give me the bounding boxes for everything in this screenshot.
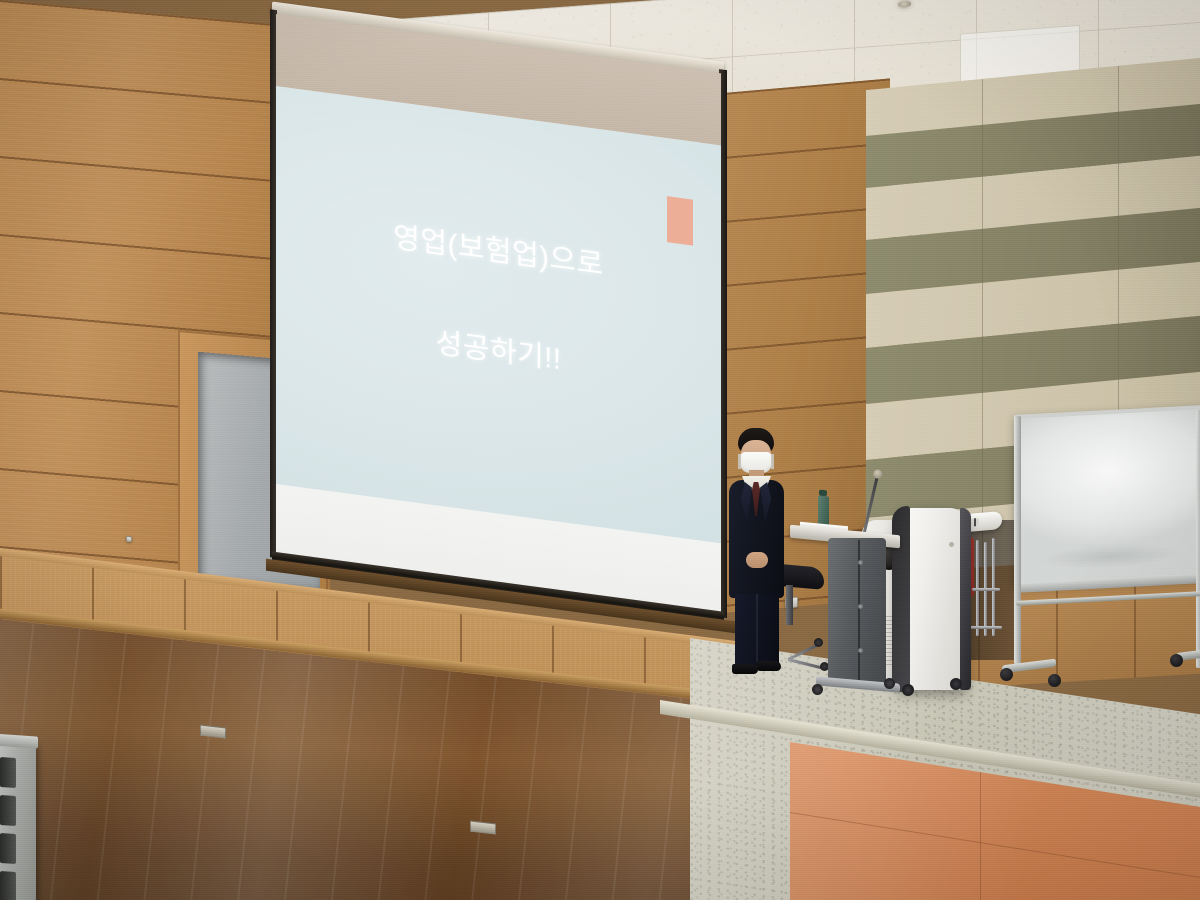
clasped-hands — [746, 552, 768, 568]
suit-trousers — [735, 594, 779, 666]
podium — [822, 512, 898, 694]
wall-outlet-small — [126, 536, 132, 543]
slide-text-block: 영업(보험업)으로 성공하기!! — [276, 198, 721, 399]
whiteboard-caster — [1000, 668, 1013, 681]
ac-indicator-light — [949, 542, 954, 547]
projected-slide: 영업(보험업)으로 성공하기!! — [276, 86, 721, 543]
whiteboard-caster — [1170, 654, 1183, 667]
dress-shoe-left — [732, 664, 758, 674]
projection-screen: 영업(보험업)으로 성공하기!! — [276, 6, 721, 625]
ac-caster — [950, 678, 962, 690]
ac-caster — [902, 684, 914, 696]
whiteboard-post-right — [1196, 410, 1200, 668]
radiator-top-cap — [0, 733, 38, 748]
podium-caster — [884, 678, 895, 689]
whiteboard-crossbar — [1016, 591, 1200, 606]
whiteboard-panel[interactable] — [1014, 405, 1200, 587]
radiator-fin — [0, 795, 16, 826]
chair-frame-crossbar — [972, 588, 1000, 591]
whiteboard-caster — [1048, 674, 1061, 687]
radiator-fin — [0, 871, 16, 900]
chair-frame-crossbar — [970, 626, 1002, 629]
dress-shoe-right — [757, 661, 781, 671]
podium-fastener — [858, 560, 863, 565]
screen-surface: 영업(보험업)으로 성공하기!! — [276, 86, 721, 613]
slide-accent-block — [667, 196, 693, 245]
mobile-whiteboard[interactable] — [1000, 410, 1200, 690]
slide-title-line-1: 영업(보험업)으로 — [276, 198, 721, 299]
radiator-fin — [0, 833, 16, 864]
floor-tile-seam — [980, 772, 981, 900]
slide-title-line-2: 성공하기!! — [276, 298, 721, 399]
radiator-fin — [0, 757, 16, 788]
portable-air-conditioner — [896, 508, 968, 690]
radiator — [0, 741, 36, 900]
podium-body — [828, 538, 886, 686]
chair-frame-rail — [992, 538, 995, 636]
podium-fastener — [858, 648, 863, 653]
presenter — [716, 428, 796, 678]
lecture-hall-scene: 영업(보험업)으로 성공하기!! — [0, 0, 1200, 900]
ac-side-panel-right — [960, 508, 971, 690]
bottle-cap — [819, 490, 827, 497]
podium-fastener — [858, 604, 863, 609]
trouser-seam — [756, 594, 758, 662]
podium-caster — [812, 684, 823, 695]
whiteboard-post-left — [1014, 416, 1021, 664]
